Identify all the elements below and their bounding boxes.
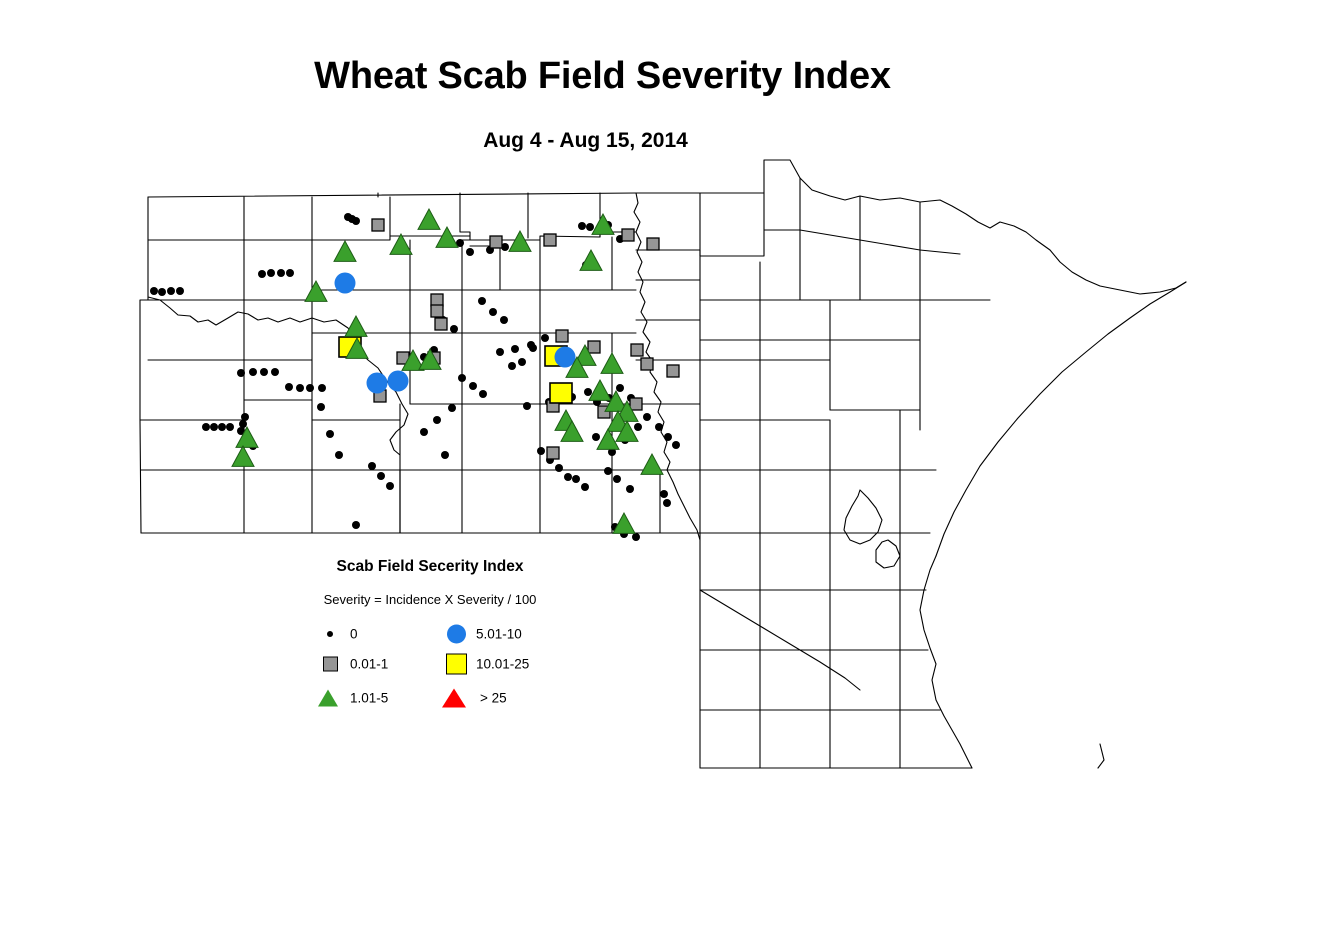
marker-zero (306, 384, 314, 392)
legend-title: Scab Field Secerity Index (300, 558, 560, 576)
marker-group-gray-square (372, 219, 679, 459)
marker-zero (377, 472, 385, 480)
marker-yellow-square (550, 383, 572, 403)
marker-zero (572, 475, 580, 483)
legend: Scab Field Secerity Index Severity = Inc… (300, 558, 600, 718)
marker-green-triangle (613, 513, 635, 533)
marker-zero (537, 447, 545, 455)
marker-zero (478, 297, 486, 305)
blue-circle-icon (447, 625, 466, 644)
marker-zero (285, 383, 293, 391)
marker-gray-square (622, 229, 634, 241)
marker-green-triangle (390, 234, 412, 254)
marker-zero (296, 384, 304, 392)
legend-label-0: 0 (350, 627, 358, 642)
marker-zero (237, 369, 245, 377)
marker-zero (466, 248, 474, 256)
marker-zero (655, 423, 663, 431)
marker-gray-square (630, 398, 642, 410)
marker-blue-circle (367, 373, 388, 394)
marker-zero (634, 423, 642, 431)
marker-green-triangle (345, 316, 367, 336)
county-boundaries (140, 160, 1186, 768)
marker-zero (578, 222, 586, 230)
marker-zero (241, 413, 249, 421)
marker-zero (277, 269, 285, 277)
marker-zero (267, 269, 275, 277)
marker-blue-circle (555, 347, 576, 368)
marker-zero (420, 428, 428, 436)
marker-zero (672, 441, 680, 449)
map-page: Wheat Scab Field Severity Index Aug 4 - … (0, 0, 1341, 926)
marker-zero (469, 382, 477, 390)
marker-zero (555, 464, 563, 472)
marker-zero (511, 345, 519, 353)
marker-zero (458, 374, 466, 382)
marker-zero (613, 475, 621, 483)
marker-zero (584, 388, 592, 396)
marker-zero (489, 308, 497, 316)
marker-zero (529, 344, 537, 352)
marker-zero (479, 390, 487, 398)
marker-blue-circle (335, 273, 356, 294)
marker-zero (500, 316, 508, 324)
marker-blue-circle (388, 371, 409, 392)
legend-formula: Severity = Incidence X Severity / 100 (300, 592, 560, 607)
marker-zero (271, 368, 279, 376)
legend-label-1: 0.01-1 (350, 657, 388, 672)
marker-zero (581, 483, 589, 491)
marker-zero (604, 467, 612, 475)
marker-gray-square (641, 358, 653, 370)
marker-gray-square (667, 365, 679, 377)
marker-gray-square (647, 238, 659, 250)
legend-item-1[interactable]: 0.01-1 (310, 650, 440, 678)
marker-green-triangle (589, 380, 611, 400)
marker-green-triangle (334, 241, 356, 261)
marker-zero (318, 384, 326, 392)
marker-zero (433, 416, 441, 424)
marker-zero (564, 473, 572, 481)
marker-green-triangle (436, 227, 458, 247)
map-canvas[interactable] (0, 0, 1341, 926)
legend-item-3[interactable]: 5.01-10 (436, 620, 586, 648)
marker-zero (167, 287, 175, 295)
marker-zero (326, 430, 334, 438)
marker-zero (239, 420, 247, 428)
marker-zero (663, 499, 671, 507)
marker-zero (664, 433, 672, 441)
gray-square-icon (323, 657, 338, 672)
marker-zero (586, 223, 594, 231)
marker-zero (352, 217, 360, 225)
marker-zero (616, 384, 624, 392)
marker-gray-square (631, 344, 643, 356)
marker-zero (508, 362, 516, 370)
marker-zero (352, 521, 360, 529)
marker-zero (448, 404, 456, 412)
marker-zero (176, 287, 184, 295)
marker-green-triangle (641, 454, 663, 474)
zero-dot-icon (327, 631, 333, 637)
marker-zero (660, 490, 668, 498)
marker-zero (317, 403, 325, 411)
legend-item-0[interactable]: 0 (310, 620, 440, 648)
marker-zero (226, 423, 234, 431)
marker-green-triangle (601, 353, 623, 373)
marker-zero (523, 402, 531, 410)
legend-label-4: 10.01-25 (476, 657, 529, 672)
marker-zero (218, 423, 226, 431)
marker-zero (496, 348, 504, 356)
marker-gray-square (490, 236, 502, 248)
marker-zero (335, 451, 343, 459)
marker-zero (286, 269, 294, 277)
legend-label-3: 5.01-10 (476, 627, 522, 642)
marker-zero (632, 533, 640, 541)
green-triangle-icon (318, 690, 338, 707)
marker-zero (202, 423, 210, 431)
marker-group-zero (150, 213, 680, 541)
marker-zero (260, 368, 268, 376)
marker-gray-square (431, 294, 443, 306)
marker-zero (643, 413, 651, 421)
marker-green-triangle (580, 250, 602, 270)
marker-zero (258, 270, 266, 278)
legend-item-4[interactable]: 10.01-25 (436, 650, 586, 678)
marker-zero (386, 482, 394, 490)
marker-zero (626, 485, 634, 493)
marker-zero (150, 287, 158, 295)
marker-gray-square (435, 318, 447, 330)
red-triangle-icon (442, 689, 466, 708)
marker-gray-square (556, 330, 568, 342)
marker-gray-square (588, 341, 600, 353)
marker-zero (541, 334, 549, 342)
marker-zero (518, 358, 526, 366)
marker-zero (450, 325, 458, 333)
marker-zero (249, 368, 257, 376)
marker-green-triangle (597, 429, 619, 449)
marker-gray-square (372, 219, 384, 231)
marker-green-triangle (305, 281, 327, 301)
marker-zero (368, 462, 376, 470)
legend-label-5: > 25 (480, 691, 507, 706)
marker-zero (441, 451, 449, 459)
marker-gray-square (544, 234, 556, 246)
marker-zero (592, 433, 600, 441)
legend-label-2: 1.01-5 (350, 691, 388, 706)
marker-zero (158, 288, 166, 296)
marker-zero (210, 423, 218, 431)
yellow-square-icon (446, 654, 467, 675)
marker-group-green-triangle (232, 209, 663, 533)
legend-item-2[interactable]: 1.01-5 (310, 684, 440, 712)
legend-item-5[interactable]: > 25 (436, 684, 586, 712)
marker-gray-square (431, 305, 443, 317)
marker-green-triangle (418, 209, 440, 229)
marker-gray-square (547, 447, 559, 459)
